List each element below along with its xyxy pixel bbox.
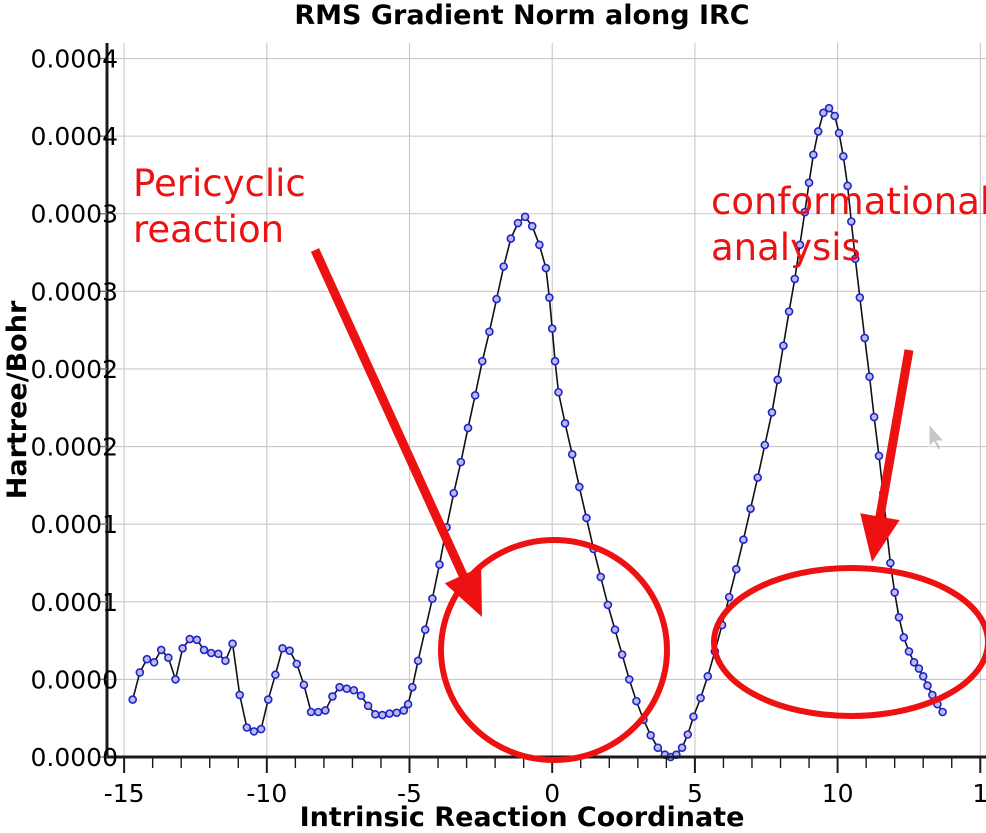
data-point-marker xyxy=(647,732,654,739)
data-point-marker xyxy=(258,726,265,733)
data-point-marker xyxy=(172,676,179,683)
data-point-marker xyxy=(229,640,236,647)
data-point-marker xyxy=(293,660,300,667)
data-point-marker xyxy=(924,682,931,689)
y-tick-label: 0.0004 xyxy=(31,122,118,151)
data-point-marker xyxy=(786,308,793,315)
data-point-marker xyxy=(619,651,626,658)
y-tick-label: 0.0000 xyxy=(31,743,118,772)
data-point-marker xyxy=(542,265,549,272)
data-point-marker xyxy=(626,676,633,683)
data-point-marker xyxy=(536,241,543,248)
rms-gradient-chart: -15-10-5051010.00000.00000.00010.00010.0… xyxy=(0,0,986,833)
data-point-marker xyxy=(875,452,882,459)
data-point-marker xyxy=(129,696,136,703)
data-point-marker xyxy=(405,701,412,708)
data-point-marker xyxy=(486,328,493,335)
data-point-marker xyxy=(329,693,336,700)
data-point-marker xyxy=(791,275,798,282)
data-point-marker xyxy=(493,296,500,303)
chart-title: RMS Gradient Norm along IRC xyxy=(294,0,749,31)
data-point-marker xyxy=(450,490,457,497)
data-point-marker xyxy=(939,708,946,715)
data-point-marker xyxy=(201,646,208,653)
data-point-marker xyxy=(684,731,691,738)
data-point-marker xyxy=(920,673,927,680)
conformers-ellipse xyxy=(714,568,986,716)
pericyclic-label: Pericyclicreaction xyxy=(133,162,306,251)
data-point-marker xyxy=(836,130,843,137)
chart-figure: -15-10-5051010.00000.00000.00010.00010.0… xyxy=(0,0,986,833)
data-point-marker xyxy=(350,687,357,694)
data-point-marker xyxy=(562,420,569,427)
data-point-marker xyxy=(546,294,553,301)
data-point-marker xyxy=(429,595,436,602)
data-point-marker xyxy=(522,213,529,220)
grid-layer xyxy=(107,43,986,757)
x-tick-label: -10 xyxy=(246,779,287,808)
data-point-marker xyxy=(193,636,200,643)
data-point-marker xyxy=(372,711,379,718)
y-tick-label: 0.0000 xyxy=(31,665,118,694)
data-point-marker xyxy=(604,601,611,608)
data-point-marker xyxy=(840,153,847,160)
data-point-marker xyxy=(911,659,918,666)
data-point-marker xyxy=(415,657,422,664)
data-point-marker xyxy=(379,712,386,719)
data-point-marker xyxy=(250,728,257,735)
data-point-marker xyxy=(831,112,838,119)
data-point-marker xyxy=(472,392,479,399)
data-point-marker xyxy=(465,424,472,431)
data-point-marker xyxy=(871,414,878,421)
data-point-marker xyxy=(861,334,868,341)
data-point-marker xyxy=(576,483,583,490)
data-point-marker xyxy=(300,681,307,688)
data-point-marker xyxy=(569,451,576,458)
data-point-marker xyxy=(611,626,618,633)
data-point-marker xyxy=(136,669,143,676)
data-point-marker xyxy=(552,358,559,365)
data-point-marker xyxy=(915,665,922,672)
data-point-marker xyxy=(507,235,514,242)
data-point-marker xyxy=(733,566,740,573)
x-tick-label: 10 xyxy=(822,779,854,808)
x-tick-label: -15 xyxy=(104,779,145,808)
data-point-marker xyxy=(215,650,222,657)
data-point-marker xyxy=(409,684,416,691)
data-point-marker xyxy=(514,220,521,227)
y-tick-label: 0.0003 xyxy=(31,277,118,306)
annotation-text-line: Pericyclic xyxy=(133,162,306,205)
data-point-marker xyxy=(549,325,556,332)
data-point-marker xyxy=(500,263,507,270)
data-point-marker xyxy=(866,373,873,380)
data-point-marker xyxy=(747,505,754,512)
annotation-text-line: reaction xyxy=(133,208,284,251)
data-point-marker xyxy=(900,634,907,641)
axis-spine xyxy=(107,43,986,757)
data-point-marker xyxy=(704,673,711,680)
data-point-marker xyxy=(179,645,186,652)
transition-state-circle xyxy=(441,540,667,760)
annotation-text-line: conformational xyxy=(711,180,986,223)
data-point-marker xyxy=(457,459,464,466)
data-point-marker xyxy=(343,685,350,692)
annotation-layer: Pericyclicreactionconformationalanalysis xyxy=(133,162,986,760)
x-tick-label: 1 xyxy=(972,779,986,808)
data-point-marker xyxy=(222,657,229,664)
data-point-marker xyxy=(810,151,817,158)
data-point-marker xyxy=(436,561,443,568)
data-point-marker xyxy=(597,573,604,580)
data-point-marker xyxy=(583,514,590,521)
data-point-marker xyxy=(780,342,787,349)
data-point-marker xyxy=(322,707,329,714)
data-point-marker xyxy=(815,128,822,135)
data-point-marker xyxy=(308,708,315,715)
data-point-marker xyxy=(422,626,429,633)
y-tick-label: 0.0001 xyxy=(31,510,118,539)
data-point-marker xyxy=(690,713,697,720)
annotation-arrow-shaft xyxy=(879,350,909,523)
data-point-marker xyxy=(208,650,215,657)
data-point-marker xyxy=(143,656,150,663)
data-point-marker xyxy=(286,647,293,654)
data-point-marker xyxy=(265,696,272,703)
y-tick-label: 0.0004 xyxy=(31,45,118,74)
data-point-marker xyxy=(151,659,158,666)
data-point-marker xyxy=(768,409,775,416)
data-point-marker xyxy=(697,695,704,702)
data-point-marker xyxy=(393,709,400,716)
data-point-marker xyxy=(315,708,322,715)
x-axis-title: Intrinsic Reaction Coordinate xyxy=(300,802,745,833)
data-point-marker xyxy=(633,698,640,705)
data-point-marker xyxy=(272,671,279,678)
y-tick-label: 0.0001 xyxy=(31,588,118,617)
data-point-marker xyxy=(386,710,393,717)
data-point-marker xyxy=(336,684,343,691)
data-point-marker xyxy=(679,744,686,751)
data-point-marker xyxy=(479,358,486,365)
data-point-marker xyxy=(243,724,250,731)
y-tick-label: 0.0002 xyxy=(31,433,118,462)
y-tick-label: 0.0002 xyxy=(31,355,118,384)
y-axis-title: Hartree/Bohr xyxy=(2,300,33,499)
axes-layer xyxy=(98,43,986,773)
data-point-marker xyxy=(895,614,902,621)
data-point-marker xyxy=(236,691,243,698)
data-point-marker xyxy=(826,105,833,112)
data-point-marker xyxy=(358,692,365,699)
data-point-marker xyxy=(754,474,761,481)
annotation-arrow-head xyxy=(860,513,899,562)
data-point-marker xyxy=(279,645,286,652)
annotation-text-line: analysis xyxy=(711,226,861,269)
annotation-arrow-shaft xyxy=(315,250,465,581)
data-point-marker xyxy=(365,702,372,709)
data-point-marker xyxy=(761,442,768,449)
data-point-marker xyxy=(654,744,661,751)
data-point-marker xyxy=(740,536,747,543)
data-point-marker xyxy=(186,636,193,643)
data-point-marker xyxy=(774,376,781,383)
data-point-marker xyxy=(529,223,536,230)
conformational-arrow xyxy=(860,350,909,562)
data-point-marker xyxy=(158,646,165,653)
data-point-marker xyxy=(726,594,733,601)
data-point-marker xyxy=(555,389,562,396)
data-point-marker xyxy=(856,294,863,301)
y-tick-label: 0.0003 xyxy=(31,200,118,229)
data-point-marker xyxy=(165,654,172,661)
pericyclic-arrow xyxy=(315,250,482,617)
data-point-marker xyxy=(891,589,898,596)
data-point-marker xyxy=(887,559,894,566)
data-point-marker xyxy=(905,648,912,655)
y-axis-title-group: Hartree/Bohr xyxy=(2,300,33,499)
